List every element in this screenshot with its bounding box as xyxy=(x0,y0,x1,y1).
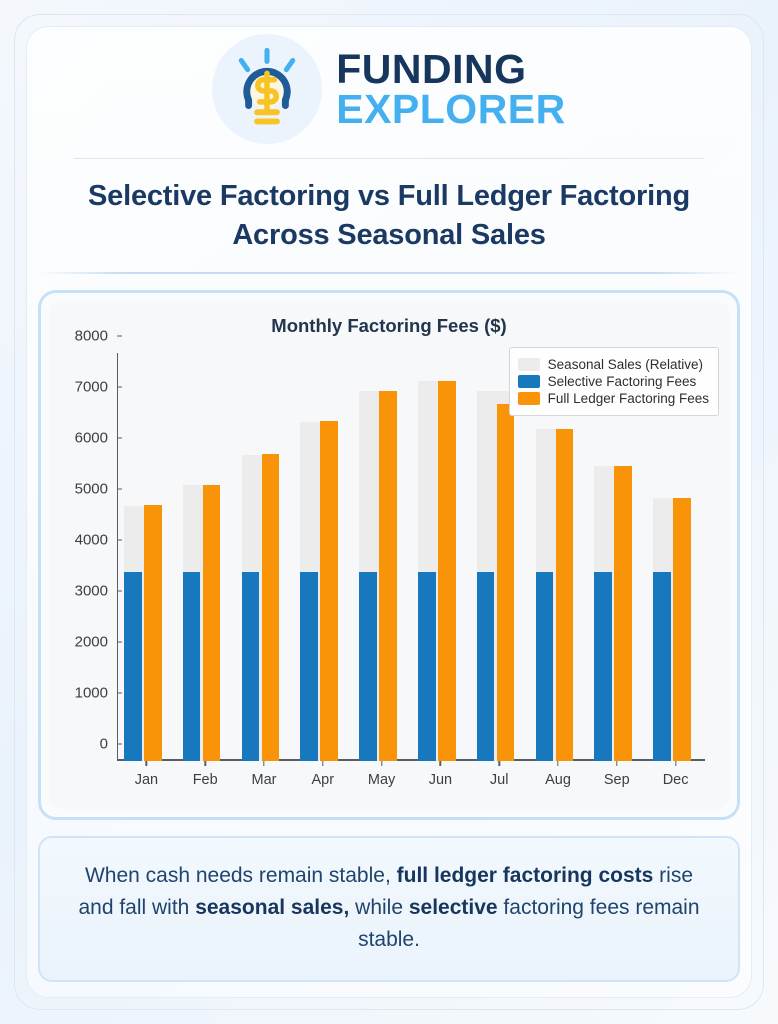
legend-item: Selective Factoring Fees xyxy=(518,374,709,389)
bar-full-ledger-fees xyxy=(379,391,397,761)
x-axis-label: Dec xyxy=(663,772,689,788)
y-axis-tick: 3000 xyxy=(75,582,117,599)
legend-label: Full Ledger Factoring Fees xyxy=(548,391,709,406)
y-axis-tick: 7000 xyxy=(75,378,117,395)
x-axis-tick xyxy=(675,761,676,766)
x-axis-label: Jul xyxy=(490,772,509,788)
bar-full-ledger-fees xyxy=(497,404,515,761)
bar-selective-fees xyxy=(124,572,142,761)
x-axis-label: Mar xyxy=(252,772,277,788)
x-axis-label: Jun xyxy=(429,772,452,788)
x-axis-tick xyxy=(322,761,323,766)
brand-wordmark: FUNDING EXPLORER xyxy=(336,49,566,129)
x-axis-label: Aug xyxy=(545,772,571,788)
legend-swatch xyxy=(518,375,540,388)
bar-selective-fees xyxy=(594,572,612,761)
caption-bold-3: selective xyxy=(409,896,498,919)
bar-full-ledger-fees xyxy=(614,466,632,761)
infographic-poster: FUNDING EXPLORER Selective Factoring vs … xyxy=(0,0,778,1024)
bar-group xyxy=(352,353,411,761)
bar-full-ledger-fees xyxy=(438,381,456,761)
bar-selective-fees xyxy=(242,572,260,761)
legend-item: Full Ledger Factoring Fees xyxy=(518,391,709,406)
bar-full-ledger-fees xyxy=(262,454,280,761)
x-axis-tick xyxy=(263,761,264,766)
bar-selective-fees xyxy=(536,572,554,761)
bar-full-ledger-fees xyxy=(144,505,162,761)
x-axis-tick xyxy=(146,761,147,766)
y-axis-tick: 8000 xyxy=(75,327,117,344)
bar-full-ledger-fees xyxy=(556,429,574,761)
y-axis-tick: 2000 xyxy=(75,633,117,650)
bar-full-ledger-fees xyxy=(673,498,691,761)
bar-full-ledger-fees xyxy=(203,485,221,760)
title-divider xyxy=(39,272,739,274)
bar-selective-fees xyxy=(183,572,201,761)
page-title-line-2: Across Seasonal Sales xyxy=(40,216,738,255)
bar-selective-fees xyxy=(418,572,436,761)
brand-line-2: EXPLORER xyxy=(336,89,566,129)
caption-seg-1: When cash needs remain stable, xyxy=(85,864,397,887)
x-axis-tick xyxy=(381,761,382,766)
legend-label: Selective Factoring Fees xyxy=(548,374,697,389)
caption-bold-2: seasonal sales, xyxy=(195,896,349,919)
page-title-line-1: Selective Factoring vs Full Ledger Facto… xyxy=(40,177,738,216)
caption-seg-3: while xyxy=(349,896,409,919)
header-divider xyxy=(74,158,704,159)
x-axis-tick xyxy=(498,761,499,766)
bar-selective-fees xyxy=(300,572,318,761)
x-axis-label: Sep xyxy=(604,772,630,788)
bar-group xyxy=(293,353,352,761)
x-axis-label: Jan xyxy=(135,772,158,788)
brand-line-1: FUNDING xyxy=(336,49,566,89)
bar-selective-fees xyxy=(653,572,671,761)
y-axis-tick: 6000 xyxy=(75,429,117,446)
chart-surface: Monthly Factoring Fees ($) 0100020003000… xyxy=(49,301,729,809)
x-axis-label: Apr xyxy=(312,772,335,788)
caption-bold-1: full ledger factoring costs xyxy=(397,864,654,887)
lightbulb-dollar-icon xyxy=(212,34,322,144)
legend-item: Seasonal Sales (Relative) xyxy=(518,357,709,372)
bar-group xyxy=(235,353,294,761)
y-axis-tick: 0 xyxy=(100,735,117,752)
chart-legend: Seasonal Sales (Relative)Selective Facto… xyxy=(509,347,719,416)
x-axis-label: May xyxy=(368,772,395,788)
bar-group xyxy=(117,353,176,761)
bar-group xyxy=(411,353,470,761)
y-axis-tick: 1000 xyxy=(75,684,117,701)
x-axis-tick xyxy=(440,761,441,766)
page-title: Selective Factoring vs Full Ledger Facto… xyxy=(40,177,738,256)
x-axis-tick xyxy=(557,761,558,766)
chart-card: Monthly Factoring Fees ($) 0100020003000… xyxy=(38,290,740,820)
bar-selective-fees xyxy=(359,572,377,761)
legend-label: Seasonal Sales (Relative) xyxy=(548,357,703,372)
brand-header: FUNDING EXPLORER xyxy=(0,0,778,144)
summary-caption: When cash needs remain stable, full ledg… xyxy=(38,836,740,982)
x-axis-tick xyxy=(204,761,205,766)
y-axis-tick: 5000 xyxy=(75,480,117,497)
x-axis-tick xyxy=(616,761,617,766)
y-axis-tick: 4000 xyxy=(75,531,117,548)
x-axis-label: Feb xyxy=(193,772,218,788)
chart-title: Monthly Factoring Fees ($) xyxy=(49,315,729,337)
bar-group xyxy=(176,353,235,761)
bar-full-ledger-fees xyxy=(320,421,338,761)
legend-swatch xyxy=(518,358,540,371)
bar-selective-fees xyxy=(477,572,495,761)
legend-swatch xyxy=(518,392,540,405)
